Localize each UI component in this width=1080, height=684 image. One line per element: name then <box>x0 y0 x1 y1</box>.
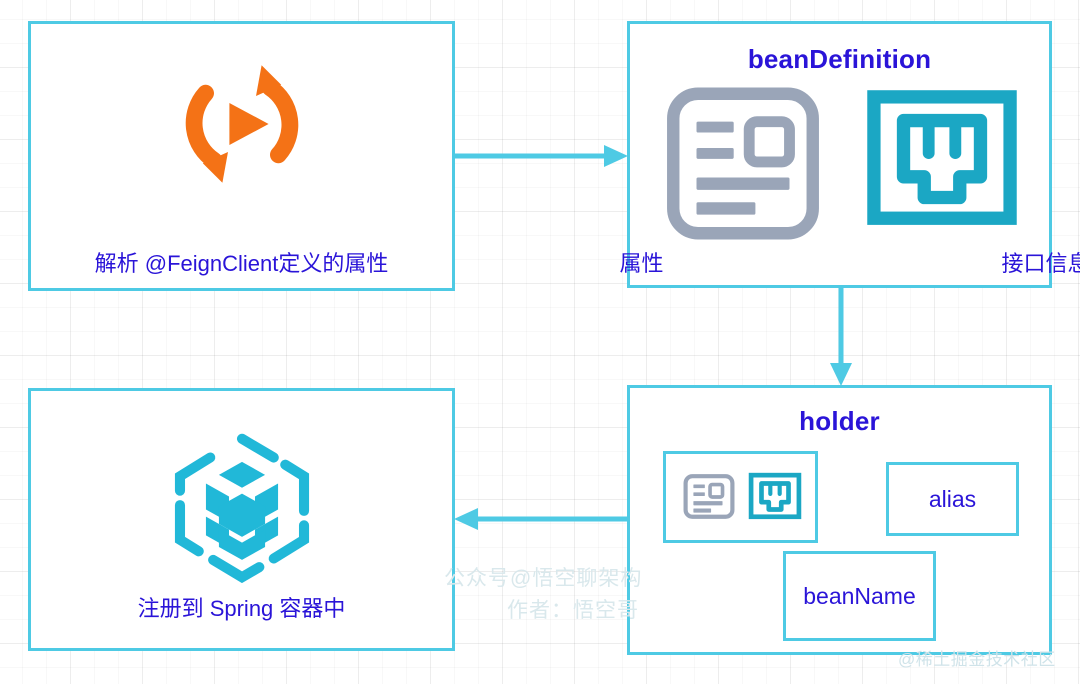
holder-field-beanname-label: beanName <box>803 583 916 610</box>
holder-icon-group[interactable] <box>663 451 818 543</box>
spring-container-cube-icon <box>169 433 314 583</box>
node-register-spring[interactable]: 注册到 Spring 容器中 <box>28 388 455 651</box>
watermark-center-line1: 公众号@悟空聊架构 <box>444 562 642 592</box>
node-holder[interactable]: holder <box>627 385 1052 655</box>
node-parse-caption: 解析 @FeignClient定义的属性 <box>31 246 452 278</box>
arrow-beandefinition-to-holder <box>827 285 855 389</box>
arrow-parse-to-beandefinition <box>452 142 632 170</box>
feign-sync-icon <box>172 54 312 194</box>
bean-definition-item-1-label: 接口信息 <box>836 246 1080 278</box>
ethernet-port-icon <box>866 88 1018 236</box>
node-parse-feignclient[interactable]: 解析 @FeignClient定义的属性 <box>28 21 455 291</box>
ethernet-port-icon <box>748 471 802 523</box>
id-card-icon <box>680 471 738 523</box>
holder-field-beanname[interactable]: beanName <box>783 551 936 641</box>
id-card-icon <box>664 86 822 241</box>
node-register-caption: 注册到 Spring 容器中 <box>31 591 452 623</box>
bean-definition-title: beanDefinition <box>630 44 1049 75</box>
diagram-canvas: 解析 @FeignClient定义的属性 beanDefinition 属性 <box>0 0 1080 684</box>
bean-definition-item-0-label: 属性 <box>432 246 851 278</box>
holder-field-alias-label: alias <box>929 486 976 513</box>
arrow-holder-to-register <box>450 505 632 533</box>
holder-field-alias[interactable]: alias <box>886 462 1019 536</box>
watermark-center-line2: 作者：悟空哥 <box>507 594 639 624</box>
node-bean-definition[interactable]: beanDefinition 属性 接口信息 <box>627 21 1052 288</box>
holder-title: holder <box>630 406 1049 437</box>
